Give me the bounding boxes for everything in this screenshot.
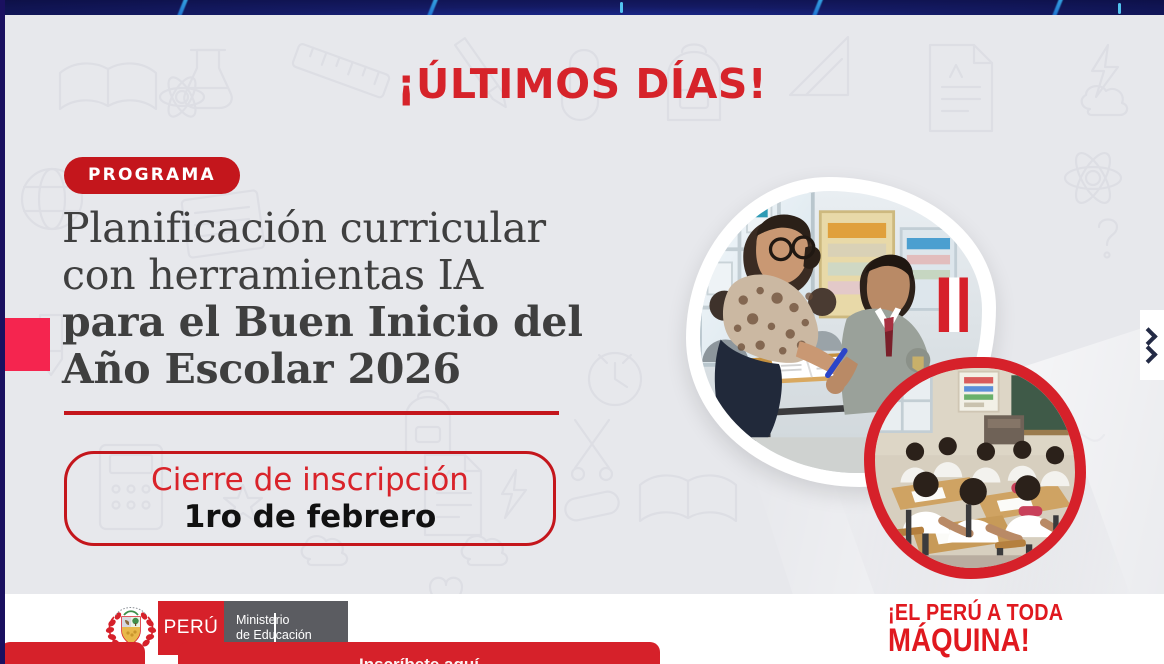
cut-off-button-register[interactable]: Inscríbete aquí xyxy=(178,642,660,664)
tagline-line-2: MÁQUINA! xyxy=(888,624,1063,657)
government-tagline: ¡EL PERÚ A TODA MÁQUINA! xyxy=(888,600,1063,657)
inscription-date: 1ro de febrero xyxy=(184,499,437,535)
inscription-label: Cierre de inscripción xyxy=(151,462,469,498)
classroom-students-photo xyxy=(864,357,1086,579)
title-line-1: Planificación curricular xyxy=(62,205,682,252)
title-line-2: con herramientas IA xyxy=(62,252,682,299)
page-title: Planificación curricular con herramienta… xyxy=(62,205,682,393)
inscription-deadline-box: Cierre de inscripción 1ro de febrero xyxy=(64,451,556,546)
ministry-line-2: de Educación xyxy=(236,628,348,643)
slide-canvas: ¡ÚLTIMOS DÍAS! PROGRAMA Planificación cu… xyxy=(0,0,1164,664)
program-badge: PROGRAMA xyxy=(64,157,240,194)
photo-collage xyxy=(668,165,1098,585)
title-divider xyxy=(64,411,559,415)
promo-slide: ¡ÚLTIMOS DÍAS! PROGRAMA Planificación cu… xyxy=(0,15,1164,594)
carousel-next-button[interactable] xyxy=(1140,310,1164,380)
tagline-line-1: ¡EL PERÚ A TODA xyxy=(888,600,1063,624)
chevron-right-icon-secondary xyxy=(1140,345,1158,363)
page-headline: ¡ÚLTIMOS DÍAS! xyxy=(0,60,1164,108)
cut-off-button-label: Inscríbete aquí xyxy=(178,655,660,664)
cut-off-button-left[interactable] xyxy=(0,642,145,664)
carousel-prev-button[interactable] xyxy=(5,318,50,371)
title-line-4: Año Escolar 2026 xyxy=(62,346,682,393)
title-line-3: para el Buen Inicio del xyxy=(62,299,682,346)
ministry-line-1: Ministerio xyxy=(236,613,348,628)
left-edge-strip xyxy=(0,0,5,664)
chevron-right-icon xyxy=(1140,327,1158,345)
previous-slide-strip xyxy=(0,0,1164,15)
